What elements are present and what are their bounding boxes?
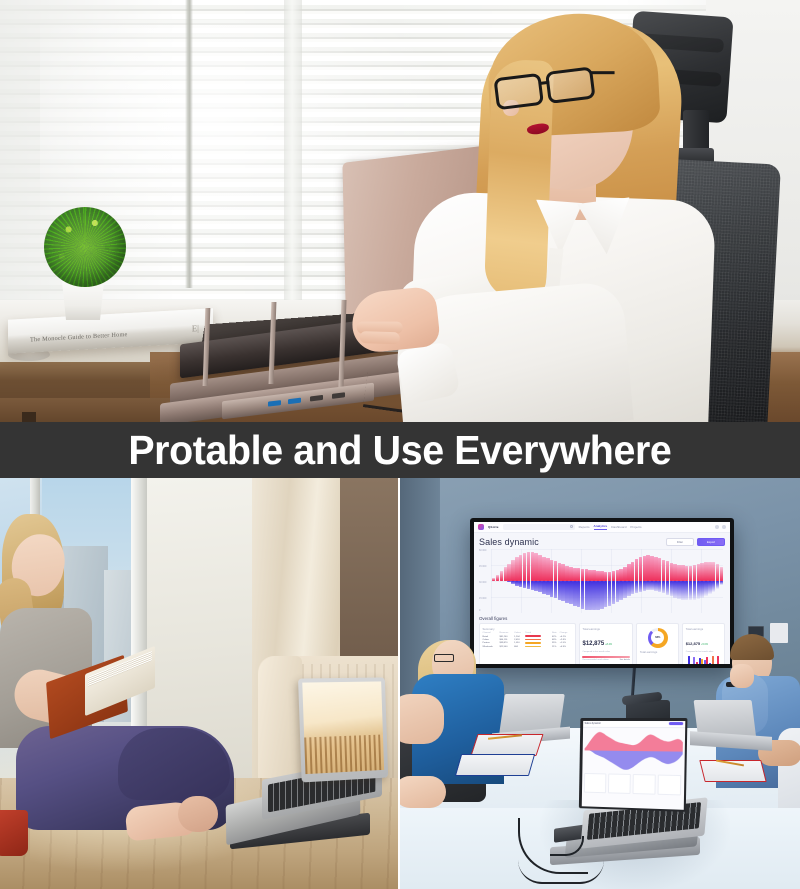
search-icon [570, 525, 573, 528]
filter-button[interactable]: Filter [666, 538, 694, 546]
panel-office-desk: The Monocle Guide to Better Home E| [0, 0, 800, 430]
kpi-card: Total earnings $12,875+8.4% Compared to … [579, 623, 633, 664]
mini-bar [712, 656, 714, 664]
interior-wall [340, 478, 398, 678]
bars-card: Total earnings $12,875+5.6% Compared to … [682, 623, 725, 664]
y-tick-label: 15 000 [479, 597, 486, 600]
kpi-note: Compared to last month sales [582, 651, 629, 653]
donut-card: 68% Total earnings $12,875+3.1% [636, 623, 679, 664]
laptop-card [608, 773, 632, 793]
donut-chart: 68% [648, 628, 668, 648]
reader-knee [118, 728, 230, 800]
laptop-chart-svg [584, 729, 683, 772]
chart-y-axis: 60 000 45 000 30 000 15 000 0 [479, 549, 491, 613]
table-body: Retail$81,2401,20462%+4.2%Online$64,1102… [483, 635, 573, 649]
summary-table: ChannelRevenueOrdersTrendRateChange Reta… [483, 632, 573, 648]
reader-foot [178, 796, 218, 832]
chart-bars [492, 549, 723, 613]
table-cell: +0.9% [560, 645, 573, 648]
attendee-right-hand [730, 664, 754, 688]
y-tick-label: 45 000 [479, 565, 486, 568]
laptop-lid [298, 677, 388, 782]
usb-cable-loop [518, 860, 604, 884]
kpi-change: +8.4% [605, 643, 612, 646]
hdmi-port [310, 395, 323, 402]
kpi-progress-bar [582, 656, 629, 658]
bars-card-value: $12,875 [686, 641, 700, 646]
panel-home-floor [0, 478, 398, 889]
donut-center-value: 68% [651, 631, 664, 644]
trend-sparkline [525, 639, 541, 640]
table-cell: 21% [552, 645, 560, 648]
donut-sub-row: $12,875+3.1% [640, 655, 676, 664]
kpi-value: $12,875 [582, 641, 604, 647]
kpi-value-row: $12,875+8.4% [582, 632, 629, 650]
dashboard-body: Sales dynamic Filter Export 60 000 45 00… [474, 533, 730, 664]
trend-sparkline [525, 646, 541, 647]
dashboard-title-row: Sales dynamic Filter Export [479, 537, 725, 547]
panel-conference-room: Qbicle Reports Analytics Dashboard Proje… [400, 478, 800, 889]
wall-control-panel[interactable] [770, 623, 788, 643]
chart-bar-column [720, 549, 723, 613]
laptop-card [657, 774, 682, 795]
bars-card-value-row: $12,875+5.6% [686, 632, 722, 650]
y-tick-label: 0 [479, 609, 480, 612]
avatar[interactable] [722, 525, 726, 529]
headline-text: Protable and Use Everywhere [128, 430, 671, 471]
mini-bar [696, 662, 698, 664]
laptop-chart-area [584, 731, 682, 751]
kpi-footer: Recommended recalculation See details [582, 659, 629, 661]
section-title: Overall figures [479, 616, 725, 621]
dashboard-navbar: Qbicle Reports Analytics Dashboard Proje… [474, 522, 730, 533]
dashboard-actions: Filter Export [666, 538, 725, 546]
nav-item-dashboard[interactable]: Dashboard [611, 525, 626, 529]
table-cell: Wholesale [483, 645, 500, 648]
card-reader-port [332, 392, 345, 399]
eyeglass-lens [545, 66, 596, 103]
nav-item-projects[interactable]: Projects [630, 525, 641, 529]
sales-dynamic-chart: 60 000 45 000 30 000 15 000 0 [479, 549, 725, 613]
clipboard-blue [455, 754, 535, 776]
plant-foliage-texture [44, 207, 126, 287]
coffee-mug [0, 810, 28, 856]
brand-logo-icon [478, 524, 484, 530]
laptop-lid: Sales dynamic [579, 718, 688, 812]
table-row: Wholesale$22,54068421%+0.9% [483, 645, 573, 648]
eyeglass-lens [493, 73, 544, 110]
table-cell: $22,540 [500, 645, 515, 648]
laptop-chart-area [584, 750, 682, 770]
book-title: The Monocle Guide to Better Home [30, 327, 200, 344]
table-cell: 684 [514, 645, 525, 648]
laptop-area-chart [584, 729, 683, 772]
bars-card-change: +5.6% [701, 643, 708, 646]
screen-wallpaper [304, 735, 384, 775]
laptop-card [583, 772, 606, 792]
bars-card-title: Total earnings [686, 627, 722, 631]
attendee-foreground-hand [400, 776, 446, 808]
headline-banner: Protable and Use Everywhere [0, 422, 800, 478]
brand-name: Qbicle [488, 525, 499, 529]
notifications-icon[interactable] [715, 525, 719, 529]
mini-bar [688, 656, 690, 664]
laptop-dashboard-action[interactable] [668, 722, 682, 725]
page-title: Sales dynamic [479, 537, 539, 547]
attendee-left-glasses-icon [434, 654, 454, 662]
export-button[interactable]: Export [697, 538, 725, 546]
donut-sub-title: Total earnings [640, 650, 676, 654]
attendee-foreground-arm [400, 694, 444, 744]
blind-cord [185, 0, 193, 288]
trend-sparkline [525, 642, 541, 643]
book-spine-mark: E| [192, 323, 199, 333]
y-tick-label: 30 000 [479, 581, 486, 584]
laptop-cards [583, 772, 681, 794]
mini-bar [701, 659, 703, 664]
usb-port [268, 400, 281, 407]
finger [360, 331, 400, 344]
laptop-dashboard: Sales dynamic [581, 720, 685, 809]
chart-bar-positive [720, 567, 723, 581]
laptop-dashboard-title: Sales dynamic [585, 722, 601, 725]
figure-cards: Summary ChannelRevenueOrdersTrendRateCha… [479, 623, 725, 664]
y-tick-label: 60 000 [479, 549, 486, 552]
laptop-screen [302, 681, 384, 774]
trend-sparkline [525, 635, 541, 636]
wall-display[interactable]: Qbicle Reports Analytics Dashboard Proje… [470, 518, 734, 668]
navbar-icons [715, 525, 726, 529]
summary-card: Summary ChannelRevenueOrdersTrendRateCha… [479, 623, 576, 664]
panel-divider [398, 478, 400, 889]
chart-bar-negative [720, 581, 723, 585]
mini-bar-chart [686, 655, 722, 664]
kpi-card-title: Total earnings [582, 627, 629, 631]
dashboard-screen: Qbicle Reports Analytics Dashboard Proje… [474, 522, 730, 664]
mini-bar [717, 656, 719, 664]
nav-item-reports[interactable]: Reports [579, 525, 590, 529]
table-cell [525, 645, 552, 648]
mini-bar [709, 663, 711, 664]
usb-port [288, 398, 301, 405]
eyeglass-temple [591, 71, 615, 74]
nav-item-analytics[interactable]: Analytics [594, 524, 608, 530]
bars-card-note: Compared to last month sales [686, 651, 722, 653]
kpi-footer-left: Recommended recalculation [582, 659, 608, 661]
summary-card-title: Summary [483, 627, 573, 631]
search-input[interactable] [503, 524, 575, 530]
kpi-footer-link[interactable]: See details [620, 659, 630, 661]
laptop-dashboard-header: Sales dynamic [583, 720, 685, 727]
laptop-card [632, 774, 656, 795]
mini-bar [706, 657, 708, 664]
product-marketing-collage: The Monocle Guide to Better Home E| [0, 0, 800, 889]
